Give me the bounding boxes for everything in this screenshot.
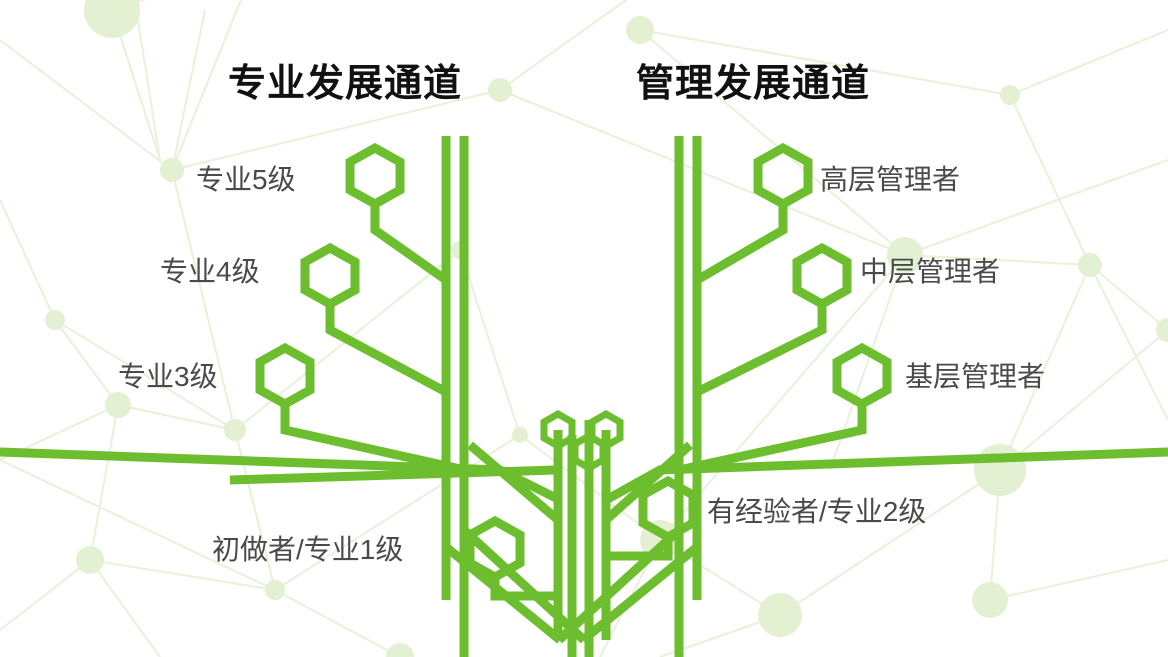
label-zhuanye-5: 专业5级 bbox=[196, 158, 296, 198]
label-zhongceng-guanlizhe: 中层管理者 bbox=[860, 250, 1000, 290]
label-chuzuozhe-zhuanye-1: 初做者/专业1级 bbox=[212, 528, 403, 568]
title-professional-track: 专业发展通道 bbox=[228, 52, 462, 107]
label-zhuanye-4: 专业4级 bbox=[160, 250, 260, 290]
career-path-infographic: 专业发展通道 管理发展通道 专业5级 专业4级 专业3级 初做者/专业1级 高层… bbox=[0, 0, 1168, 657]
label-jiceng-guanlizhe: 基层管理者 bbox=[905, 355, 1045, 395]
label-gaoceng-guanlizhe: 高层管理者 bbox=[820, 158, 960, 198]
title-management-track: 管理发展通道 bbox=[636, 52, 870, 107]
label-youjingyanzhe-zhuanye-2: 有经验者/专业2级 bbox=[707, 490, 926, 530]
label-zhuanye-3: 专业3级 bbox=[118, 355, 218, 395]
